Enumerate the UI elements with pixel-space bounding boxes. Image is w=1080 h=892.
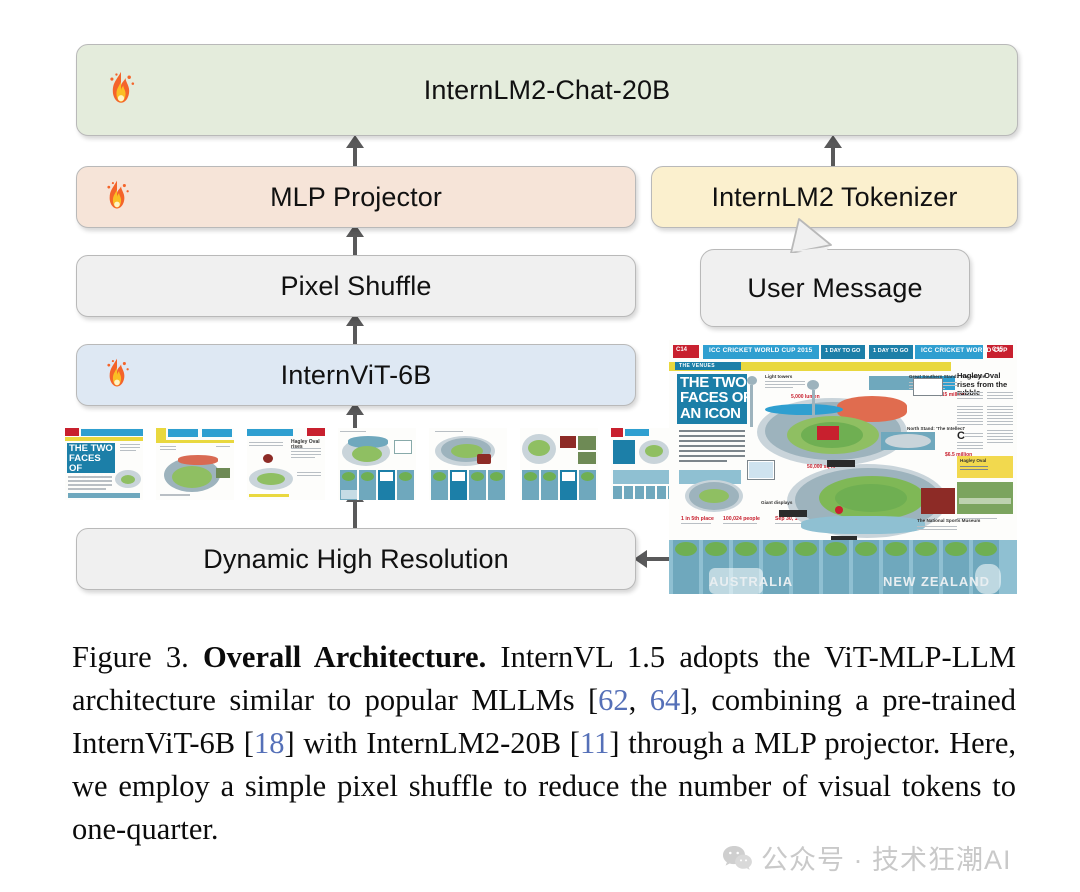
image-tile	[338, 428, 416, 500]
arrow-shuffle-to-projector	[353, 235, 357, 257]
image-tile	[520, 428, 598, 500]
node-label-internvit-6b: InternViT-6B	[281, 360, 432, 391]
source-infographic-image: ICC CRICKET WORLD CUP 2015 1 DAY TO GO 1…	[669, 340, 1017, 594]
citation-64[interactable]: 64	[650, 683, 681, 717]
infographic-headline: THE TWOFACES OFAN ICON	[680, 375, 752, 421]
node-label-dynamic-high-resolution: Dynamic High Resolution	[203, 544, 508, 575]
node-mlp-projector[interactable]: MLP Projector	[76, 166, 636, 228]
node-label-pixel-shuffle: Pixel Shuffle	[281, 271, 432, 302]
infographic-side-headline: Hagley Oval rises from the rubble	[957, 372, 1013, 398]
node-label-user-message: User Message	[747, 273, 922, 304]
node-label-internlm2-chat-20b: InternLM2-Chat-20B	[424, 75, 670, 106]
infographic-country-left: AUSTRALIA	[709, 574, 793, 589]
arrow-vit-to-shuffle	[353, 324, 357, 346]
node-pixel-shuffle[interactable]: Pixel Shuffle	[76, 255, 636, 317]
image-tile: THE TWOFACES OFAN ICON	[65, 428, 143, 500]
infographic-country-right: NEW ZEALAND	[883, 574, 990, 589]
caption-sep-1: ,	[629, 683, 650, 717]
flame-icon	[101, 357, 133, 393]
image-tile: Hagley Oval rises	[247, 428, 325, 500]
arrow-dynres-to-tiles	[353, 500, 357, 528]
arrow-image-to-dynres	[645, 557, 669, 561]
flame-icon	[103, 70, 139, 110]
watermark: 公众号 · 技术狂潮AI	[722, 838, 1012, 877]
wechat-icon	[722, 844, 752, 872]
caption-figure-label: Figure 3.	[72, 640, 189, 674]
citation-62[interactable]: 62	[598, 683, 629, 717]
node-dynamic-high-resolution[interactable]: Dynamic High Resolution	[76, 528, 636, 590]
image-tile	[156, 428, 234, 500]
citation-11[interactable]: 11	[580, 726, 609, 760]
node-internvit-6b[interactable]: InternViT-6B	[76, 344, 636, 406]
node-label-mlp-projector: MLP Projector	[270, 182, 442, 213]
node-user-message[interactable]: User Message	[700, 249, 970, 327]
arrow-projector-to-llm	[353, 146, 357, 168]
node-label-internlm2-tokenizer: InternLM2 Tokenizer	[711, 182, 957, 213]
speech-bubble-tail-icon	[785, 213, 845, 253]
flame-icon	[101, 179, 133, 215]
arrow-tokenizer-to-llm	[831, 146, 835, 168]
citation-18[interactable]: 18	[254, 726, 285, 760]
caption-bold-title: Overall Architecture.	[203, 640, 486, 674]
watermark-text: 公众号 · 技术狂潮AI	[761, 838, 1012, 877]
figure-page: InternLM2-Chat-20B MLP Projector InternL…	[0, 0, 1080, 892]
node-internlm2-chat-20b[interactable]: InternLM2-Chat-20B	[76, 44, 1018, 136]
caption-text-3: ] with InternLM2-20B [	[284, 726, 580, 760]
image-tile	[429, 428, 507, 500]
figure-caption: Figure 3. Overall Architecture. InternVL…	[72, 636, 1016, 851]
